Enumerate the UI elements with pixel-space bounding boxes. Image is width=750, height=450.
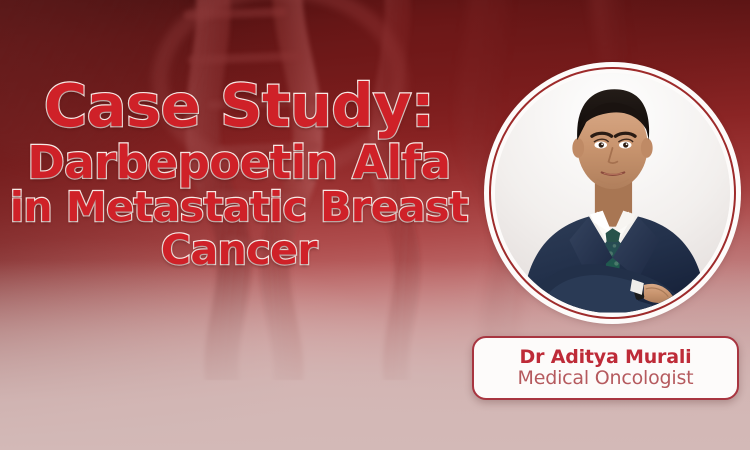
banner-title-line-3: in Metastatic Breast: [0, 187, 478, 228]
doctor-name-badge: Dr Aditya Murali Medical Oncologist: [472, 336, 739, 400]
doctor-photo-image: [495, 73, 730, 313]
case-study-banner: Case Study: Darbepoetin Alfa in Metastat…: [0, 0, 750, 450]
doctor-name: Dr Aditya Murali: [520, 347, 692, 368]
banner-title-block: Case Study: Darbepoetin Alfa in Metastat…: [0, 76, 478, 271]
banner-title-line-1: Case Study:: [0, 76, 478, 135]
banner-title-line-4: Cancer: [0, 230, 478, 271]
portrait-ring: [489, 67, 736, 319]
doctor-portrait: [489, 67, 736, 319]
doctor-role: Medical Oncologist: [518, 368, 694, 390]
banner-title-line-2: Darbepoetin Alfa: [0, 140, 478, 185]
